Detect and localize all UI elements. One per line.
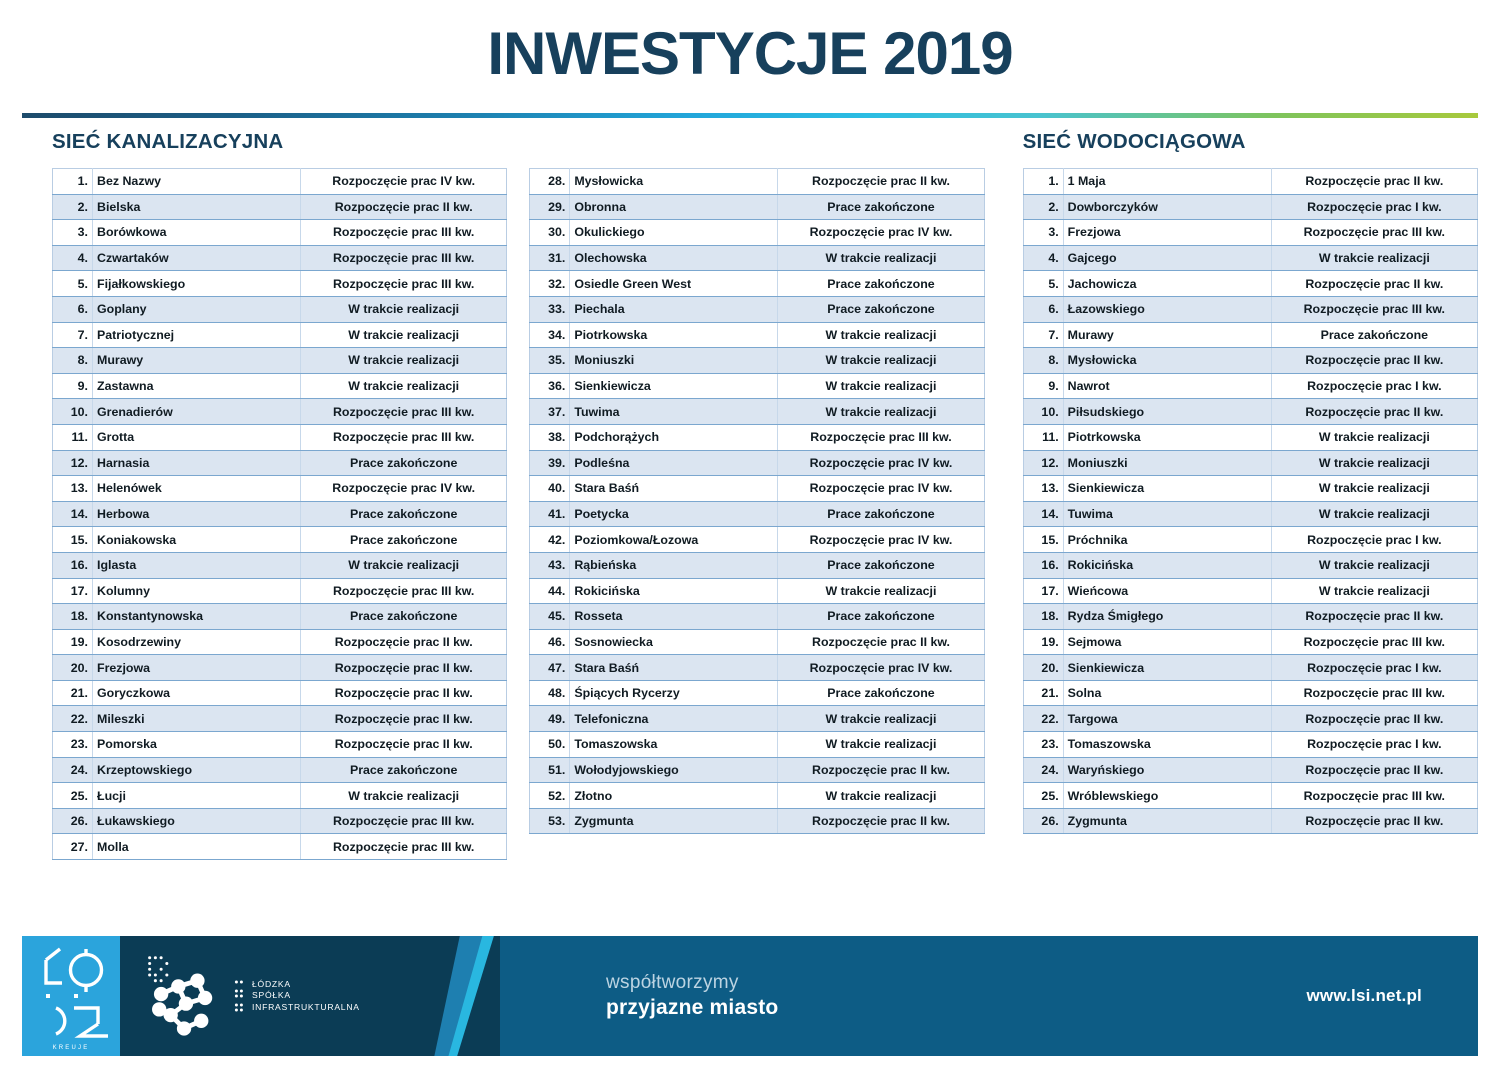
row-index: 10. [1023, 399, 1063, 425]
status-badge: Rozpoczęcie prac III kw. [301, 808, 507, 834]
status-badge: Rozpoczęcie prac II kw. [301, 706, 507, 732]
table-row: 14.TuwimaW trakcie realizacji [1023, 501, 1477, 527]
street-name: Fijałkowskiego [93, 271, 301, 297]
table-row: 6.ŁazowskiegoRozpoczęcie prac III kw. [1023, 296, 1477, 322]
status-badge: W trakcie realizacji [301, 322, 507, 348]
street-name: Czwartaków [93, 245, 301, 271]
status-badge: Rozpoczęcie prac II kw. [1271, 348, 1477, 374]
status-badge: Rozpoczęcie prac II kw. [301, 629, 507, 655]
table-row: 40.Stara BaśńRozpoczęcie prac IV kw. [530, 476, 984, 502]
status-badge: Rozpoczęcie prac III kw. [301, 245, 507, 271]
row-index: 13. [1023, 476, 1063, 502]
status-badge: W trakcie realizacji [1271, 424, 1477, 450]
table-row: 5.FijałkowskiegoRozpoczęcie prac III kw. [53, 271, 507, 297]
street-name: Łucji [93, 783, 301, 809]
table-row: 8.MurawyW trakcie realizacji [53, 348, 507, 374]
street-name: Kolumny [93, 578, 301, 604]
street-name: Mysłowicka [570, 169, 778, 195]
street-name: Nawrot [1063, 373, 1271, 399]
row-index: 26. [1023, 808, 1063, 834]
status-badge: Rozpoczęcie prac II kw. [301, 680, 507, 706]
row-index: 2. [53, 194, 93, 220]
street-name: Obronna [570, 194, 778, 220]
status-badge: Prace zakończone [1271, 322, 1477, 348]
status-badge: Rozpoczęcie prac IV kw. [778, 655, 984, 681]
row-index: 5. [53, 271, 93, 297]
table-row: 20.FrezjowaRozpoczęcie prac II kw. [53, 655, 507, 681]
row-index: 42. [530, 527, 570, 553]
table-row: 19.SejmowaRozpoczęcie prac III kw. [1023, 629, 1477, 655]
status-badge: W trakcie realizacji [1271, 578, 1477, 604]
status-badge: W trakcie realizacji [778, 373, 984, 399]
lsi-molecule-icon [142, 950, 228, 1042]
lsi-name-line-3: INFRASTRUKTURALNA [252, 1002, 360, 1014]
status-badge: Rozpoczęcie prac III kw. [1271, 220, 1477, 246]
table-row: 14.HerbowaPrace zakończone [53, 501, 507, 527]
row-index: 4. [1023, 245, 1063, 271]
table-row: 27.MollaRozpoczęcie prac III kw. [53, 834, 507, 860]
row-index: 52. [530, 783, 570, 809]
table-row: 23.PomorskaRozpoczęcie prac II kw. [53, 732, 507, 758]
column-sewer-1: SIEĆ KANALIZACYJNA 1.Bez NazwyRozpoczęci… [52, 130, 507, 860]
status-badge: W trakcie realizacji [301, 552, 507, 578]
status-badge: W trakcie realizacji [301, 373, 507, 399]
status-badge: Rozpoczęcie prac III kw. [301, 399, 507, 425]
table-row: 11.PiotrkowskaW trakcie realizacji [1023, 424, 1477, 450]
table-row: 26.ZygmuntaRozpoczęcie prac II kw. [1023, 808, 1477, 834]
row-index: 50. [530, 732, 570, 758]
row-index: 47. [530, 655, 570, 681]
row-index: 45. [530, 604, 570, 630]
street-name: Sejmowa [1063, 629, 1271, 655]
table-row: 3.BorówkowaRozpoczęcie prac III kw. [53, 220, 507, 246]
status-badge: Rozpoczęcie prac III kw. [301, 424, 507, 450]
street-name: Moniuszki [1063, 450, 1271, 476]
table-row: 22.MileszkiRozpoczęcie prac II kw. [53, 706, 507, 732]
status-badge: Rozpoczęcie prac II kw. [1271, 271, 1477, 297]
street-name: Rydza Śmigłego [1063, 604, 1271, 630]
status-badge: Rozpoczęcie prac IV kw. [778, 450, 984, 476]
lsi-dot-grid-icon [234, 979, 246, 1013]
status-badge: W trakcie realizacji [778, 732, 984, 758]
status-badge: Rozpoczęcie prac I kw. [1271, 527, 1477, 553]
lsi-logo-block: ŁÓDZKA SPÓŁKA INFRASTRUKTURALNA [120, 936, 500, 1056]
status-badge: Rozpoczęcie prac I kw. [1271, 373, 1477, 399]
table-row: 13.SienkiewiczaW trakcie realizacji [1023, 476, 1477, 502]
status-badge: Rozpoczęcie prac II kw. [1271, 399, 1477, 425]
status-badge: Rozpoczęcie prac III kw. [778, 424, 984, 450]
row-index: 46. [530, 629, 570, 655]
row-index: 3. [53, 220, 93, 246]
row-index: 33. [530, 296, 570, 322]
street-name: Rokicińska [1063, 552, 1271, 578]
row-index: 30. [530, 220, 570, 246]
street-name: Telefoniczna [570, 706, 778, 732]
lodz-logo-icon: KREUJE [22, 936, 120, 1056]
status-badge: Rozpoczęcie prac IV kw. [778, 220, 984, 246]
street-name: Łazowskiego [1063, 296, 1271, 322]
status-badge: Prace zakończone [301, 757, 507, 783]
row-index: 4. [53, 245, 93, 271]
table-row: 4.GajcegoW trakcie realizacji [1023, 245, 1477, 271]
row-index: 12. [53, 450, 93, 476]
table-row: 10.GrenadierówRozpoczęcie prac III kw. [53, 399, 507, 425]
row-index: 51. [530, 757, 570, 783]
table-row: 21.GoryczkowaRozpoczęcie prac II kw. [53, 680, 507, 706]
table-row: 12.MoniuszkiW trakcie realizacji [1023, 450, 1477, 476]
footer-band: KREUJE [22, 936, 1478, 1056]
table-row: 33.PiechalaPrace zakończone [530, 296, 984, 322]
street-name: Śpiących Rycerzy [570, 680, 778, 706]
table-body: 1.Bez NazwyRozpoczęcie prac IV kw.2.Biel… [53, 169, 507, 860]
street-name: Poziomkowa/Łozowa [570, 527, 778, 553]
row-index: 6. [1023, 296, 1063, 322]
status-badge: Rozpoczęcie prac III kw. [1271, 629, 1477, 655]
table-row: 9.ZastawnaW trakcie realizacji [53, 373, 507, 399]
street-name: Sienkiewicza [570, 373, 778, 399]
row-index: 16. [1023, 552, 1063, 578]
status-badge: Rozpoczęcie prac IV kw. [301, 169, 507, 195]
street-name: Poetycka [570, 501, 778, 527]
street-name: Osiedle Green West [570, 271, 778, 297]
table-row: 52.ZłotnoW trakcie realizacji [530, 783, 984, 809]
table-row: 15.PróchnikaRozpoczęcie prac I kw. [1023, 527, 1477, 553]
table-row: 7.MurawyPrace zakończone [1023, 322, 1477, 348]
street-name: Mysłowicka [1063, 348, 1271, 374]
column-sewer-2: 28.MysłowickaRozpoczęcie prac II kw.29.O… [529, 130, 984, 834]
table-row: 34.PiotrkowskaW trakcie realizacji [530, 322, 984, 348]
street-name: Zastawna [93, 373, 301, 399]
table-row: 47.Stara BaśńRozpoczęcie prac IV kw. [530, 655, 984, 681]
street-name: Rokicińska [570, 578, 778, 604]
status-badge: Rozpoczęcie prac I kw. [1271, 194, 1477, 220]
table-row: 37.TuwimaW trakcie realizacji [530, 399, 984, 425]
street-name: Konstantynowska [93, 604, 301, 630]
street-name: Piechala [570, 296, 778, 322]
street-name: Piotrkowska [1063, 424, 1271, 450]
street-name: Molla [93, 834, 301, 860]
street-name: Okulickiego [570, 220, 778, 246]
footer-website-url[interactable]: www.lsi.net.pl [1306, 986, 1422, 1006]
table-row: 44.RokicińskaW trakcie realizacji [530, 578, 984, 604]
street-name: Piłsudskiego [1063, 399, 1271, 425]
row-index: 20. [1023, 655, 1063, 681]
status-badge: Rozpoczęcie prac I kw. [1271, 655, 1477, 681]
table-row: 19.KosodrzewinyRozpoczęcie prac II kw. [53, 629, 507, 655]
page-footer: KREUJE [0, 920, 1500, 1072]
street-name: Frezjowa [93, 655, 301, 681]
status-badge: Prace zakończone [778, 680, 984, 706]
table-row: 9.NawrotRozpoczęcie prac I kw. [1023, 373, 1477, 399]
row-index: 37. [530, 399, 570, 425]
status-badge: Prace zakończone [778, 552, 984, 578]
row-index: 15. [1023, 527, 1063, 553]
status-badge: W trakcie realizacji [778, 783, 984, 809]
lodz-city-logo: KREUJE [22, 936, 120, 1056]
status-badge: W trakcie realizacji [301, 296, 507, 322]
row-index: 22. [53, 706, 93, 732]
row-index: 38. [530, 424, 570, 450]
status-badge: W trakcie realizacji [1271, 450, 1477, 476]
table-row: 2.BielskaRozpoczęcie prac II kw. [53, 194, 507, 220]
row-index: 25. [1023, 783, 1063, 809]
status-badge: W trakcie realizacji [1271, 501, 1477, 527]
poster-page: INWESTYCJE 2019 SIEĆ KANALIZACYJNA 1.Bez… [0, 0, 1500, 1072]
table-row: 6.GoplanyW trakcie realizacji [53, 296, 507, 322]
table-row: 53.ZygmuntaRozpoczęcie prac II kw. [530, 808, 984, 834]
street-name: Tuwima [1063, 501, 1271, 527]
street-name: Podchorążych [570, 424, 778, 450]
street-name: Stara Baśń [570, 476, 778, 502]
table-row: 48.Śpiących RycerzyPrace zakończone [530, 680, 984, 706]
status-badge: W trakcie realizacji [1271, 552, 1477, 578]
table-row: 8.MysłowickaRozpoczęcie prac II kw. [1023, 348, 1477, 374]
street-name: Tuwima [570, 399, 778, 425]
row-index: 26. [53, 808, 93, 834]
table-row: 16.RokicińskaW trakcie realizacji [1023, 552, 1477, 578]
street-name: Murawy [93, 348, 301, 374]
street-name: Tomaszowska [570, 732, 778, 758]
table-row: 50.TomaszowskaW trakcie realizacji [530, 732, 984, 758]
column-spacer [529, 130, 984, 168]
status-badge: Prace zakończone [778, 271, 984, 297]
row-index: 7. [1023, 322, 1063, 348]
street-name: Bielska [93, 194, 301, 220]
table-row: 23.TomaszowskaRozpoczęcie prac I kw. [1023, 732, 1477, 758]
street-name: Zygmunta [570, 808, 778, 834]
street-name: Herbowa [93, 501, 301, 527]
lsi-name-line-1: ŁÓDZKA [252, 979, 360, 991]
status-badge: Rozpoczęcie prac III kw. [301, 578, 507, 604]
street-name: Olechowska [570, 245, 778, 271]
row-index: 24. [1023, 757, 1063, 783]
street-name: Mileszki [93, 706, 301, 732]
status-badge: Rozpoczęcie prac II kw. [1271, 604, 1477, 630]
row-index: 18. [53, 604, 93, 630]
street-name: Jachowicza [1063, 271, 1271, 297]
status-badge: W trakcie realizacji [778, 399, 984, 425]
row-index: 36. [530, 373, 570, 399]
row-index: 23. [53, 732, 93, 758]
table-water: 1.1 MajaRozpoczęcie prac II kw.2.Dowborc… [1023, 168, 1478, 834]
status-badge: W trakcie realizacji [301, 348, 507, 374]
table-row: 2.DowborczykówRozpoczęcie prac I kw. [1023, 194, 1477, 220]
street-name: Sienkiewicza [1063, 655, 1271, 681]
row-index: 31. [530, 245, 570, 271]
table-row: 7.PatriotycznejW trakcie realizacji [53, 322, 507, 348]
table-row: 24.WaryńskiegoRozpoczęcie prac II kw. [1023, 757, 1477, 783]
row-index: 24. [53, 757, 93, 783]
table-row: 42.Poziomkowa/ŁozowaRozpoczęcie prac IV … [530, 527, 984, 553]
status-badge: Prace zakończone [778, 501, 984, 527]
row-index: 8. [1023, 348, 1063, 374]
table-row: 3.FrezjowaRozpoczęcie prac III kw. [1023, 220, 1477, 246]
row-index: 27. [53, 834, 93, 860]
street-name: Wieńcowa [1063, 578, 1271, 604]
street-name: Targowa [1063, 706, 1271, 732]
status-badge: W trakcie realizacji [1271, 476, 1477, 502]
status-badge: W trakcie realizacji [778, 706, 984, 732]
row-index: 19. [53, 629, 93, 655]
status-badge: Rozpoczęcie prac II kw. [1271, 757, 1477, 783]
street-name: Łukawskiego [93, 808, 301, 834]
row-index: 21. [53, 680, 93, 706]
status-badge: W trakcie realizacji [778, 245, 984, 271]
street-name: Dowborczyków [1063, 194, 1271, 220]
row-index: 15. [53, 527, 93, 553]
street-name: Harnasia [93, 450, 301, 476]
row-index: 25. [53, 783, 93, 809]
street-name: Pomorska [93, 732, 301, 758]
status-badge: Rozpoczęcie prac II kw. [301, 194, 507, 220]
section-title-water: SIEĆ WODOCIĄGOWA [1023, 130, 1478, 156]
row-index: 34. [530, 322, 570, 348]
street-name: Rąbieńska [570, 552, 778, 578]
table-row: 17.KolumnyRozpoczęcie prac III kw. [53, 578, 507, 604]
table-body: 1.1 MajaRozpoczęcie prac II kw.2.Dowborc… [1023, 169, 1477, 834]
street-name: Murawy [1063, 322, 1271, 348]
status-badge: Prace zakończone [778, 296, 984, 322]
table-row: 45.RossetaPrace zakończone [530, 604, 984, 630]
street-name: Solna [1063, 680, 1271, 706]
status-badge: Rozpoczęcie prac II kw. [1271, 706, 1477, 732]
table-body: 28.MysłowickaRozpoczęcie prac II kw.29.O… [530, 169, 984, 834]
table-row: 17.WieńcowaW trakcie realizacji [1023, 578, 1477, 604]
street-name: Koniakowska [93, 527, 301, 553]
row-index: 19. [1023, 629, 1063, 655]
street-name: Wróblewskiego [1063, 783, 1271, 809]
table-row: 1.Bez NazwyRozpoczęcie prac IV kw. [53, 169, 507, 195]
street-name: Grotta [93, 424, 301, 450]
table-row: 43.RąbieńskaPrace zakończone [530, 552, 984, 578]
status-badge: Rozpoczęcie prac III kw. [301, 220, 507, 246]
street-name: Stara Baśń [570, 655, 778, 681]
table-row: 35.MoniuszkiW trakcie realizacji [530, 348, 984, 374]
status-badge: Prace zakończone [301, 527, 507, 553]
row-index: 29. [530, 194, 570, 220]
table-row: 29.ObronnaPrace zakończone [530, 194, 984, 220]
street-name: Podleśna [570, 450, 778, 476]
status-badge: Rozpoczęcie prac II kw. [778, 757, 984, 783]
table-row: 25.WróblewskiegoRozpoczęcie prac III kw. [1023, 783, 1477, 809]
street-name: Gajcego [1063, 245, 1271, 271]
street-name: Waryńskiego [1063, 757, 1271, 783]
street-name: 1 Maja [1063, 169, 1271, 195]
status-badge: W trakcie realizacji [301, 783, 507, 809]
row-index: 13. [53, 476, 93, 502]
status-badge: Rozpoczęcie prac II kw. [301, 655, 507, 681]
row-index: 22. [1023, 706, 1063, 732]
main-content: SIEĆ KANALIZACYJNA 1.Bez NazwyRozpoczęci… [0, 130, 1500, 900]
table-row: 51.WołodyjowskiegoRozpoczęcie prac II kw… [530, 757, 984, 783]
table-row: 16.IglastaW trakcie realizacji [53, 552, 507, 578]
table-row: 46.SosnowieckaRozpoczęcie prac II kw. [530, 629, 984, 655]
status-badge: Rozpoczęcie prac II kw. [778, 808, 984, 834]
street-name: Moniuszki [570, 348, 778, 374]
status-badge: W trakcie realizacji [1271, 245, 1477, 271]
status-badge: Rozpoczęcie prac III kw. [301, 834, 507, 860]
status-badge: Rozpoczęcie prac III kw. [1271, 296, 1477, 322]
street-name: Sosnowiecka [570, 629, 778, 655]
row-index: 17. [53, 578, 93, 604]
table-row: 12.HarnasiaPrace zakończone [53, 450, 507, 476]
row-index: 23. [1023, 732, 1063, 758]
column-water: SIEĆ WODOCIĄGOWA 1.1 MajaRozpoczęcie pra… [1023, 130, 1478, 834]
row-index: 44. [530, 578, 570, 604]
status-badge: Rozpoczęcie prac I kw. [1271, 732, 1477, 758]
table-row: 39.PodleśnaRozpoczęcie prac IV kw. [530, 450, 984, 476]
status-badge: W trakcie realizacji [778, 322, 984, 348]
status-badge: W trakcie realizacji [778, 578, 984, 604]
table-row: 21.SolnaRozpoczęcie prac III kw. [1023, 680, 1477, 706]
table-row: 36.SienkiewiczaW trakcie realizacji [530, 373, 984, 399]
street-name: Frezjowa [1063, 220, 1271, 246]
table-row: 5.JachowiczaRozpoczęcie prac II kw. [1023, 271, 1477, 297]
table-row: 22.TargowaRozpoczęcie prac II kw. [1023, 706, 1477, 732]
street-name: Bez Nazwy [93, 169, 301, 195]
row-index: 39. [530, 450, 570, 476]
street-name: Piotrkowska [570, 322, 778, 348]
street-name: Złotno [570, 783, 778, 809]
table-row: 49.TelefonicznaW trakcie realizacji [530, 706, 984, 732]
lsi-name-line-2: SPÓŁKA [252, 990, 360, 1002]
table-row: 18.Rydza ŚmigłegoRozpoczęcie prac II kw. [1023, 604, 1477, 630]
row-index: 49. [530, 706, 570, 732]
status-badge: Rozpoczęcie prac II kw. [778, 169, 984, 195]
row-index: 1. [1023, 169, 1063, 195]
row-index: 48. [530, 680, 570, 706]
row-index: 11. [53, 424, 93, 450]
street-name: Patriotycznej [93, 322, 301, 348]
status-badge: W trakcie realizacji [778, 348, 984, 374]
status-badge: Rozpoczęcie prac III kw. [301, 271, 507, 297]
street-name: Iglasta [93, 552, 301, 578]
row-index: 21. [1023, 680, 1063, 706]
row-index: 9. [1023, 373, 1063, 399]
lodz-logo-sub: KREUJE [53, 1045, 90, 1051]
table-row: 13.HelenówekRozpoczęcie prac IV kw. [53, 476, 507, 502]
table-row: 20.SienkiewiczaRozpoczęcie prac I kw. [1023, 655, 1477, 681]
row-index: 8. [53, 348, 93, 374]
status-badge: Rozpoczęcie prac II kw. [1271, 808, 1477, 834]
row-index: 7. [53, 322, 93, 348]
row-index: 17. [1023, 578, 1063, 604]
street-name: Kosodrzewiny [93, 629, 301, 655]
status-badge: Prace zakończone [778, 604, 984, 630]
status-badge: Prace zakończone [301, 604, 507, 630]
status-badge: Prace zakończone [301, 450, 507, 476]
table-row: 28.MysłowickaRozpoczęcie prac II kw. [530, 169, 984, 195]
table-row: 26.ŁukawskiegoRozpoczęcie prac III kw. [53, 808, 507, 834]
table-row: 38.PodchorążychRozpoczęcie prac III kw. [530, 424, 984, 450]
row-index: 5. [1023, 271, 1063, 297]
row-index: 32. [530, 271, 570, 297]
table-row: 24.KrzeptowskiegoPrace zakończone [53, 757, 507, 783]
status-badge: Rozpoczęcie prac III kw. [1271, 680, 1477, 706]
street-name: Wołodyjowskiego [570, 757, 778, 783]
street-name: Helenówek [93, 476, 301, 502]
street-name: Sienkiewicza [1063, 476, 1271, 502]
status-badge: Rozpoczęcie prac IV kw. [301, 476, 507, 502]
row-index: 20. [53, 655, 93, 681]
row-index: 41. [530, 501, 570, 527]
status-badge: Rozpoczęcie prac II kw. [778, 629, 984, 655]
street-name: Goryczkowa [93, 680, 301, 706]
row-index: 53. [530, 808, 570, 834]
section-title-sewer: SIEĆ KANALIZACYJNA [52, 130, 507, 156]
street-name: Zygmunta [1063, 808, 1271, 834]
row-index: 40. [530, 476, 570, 502]
